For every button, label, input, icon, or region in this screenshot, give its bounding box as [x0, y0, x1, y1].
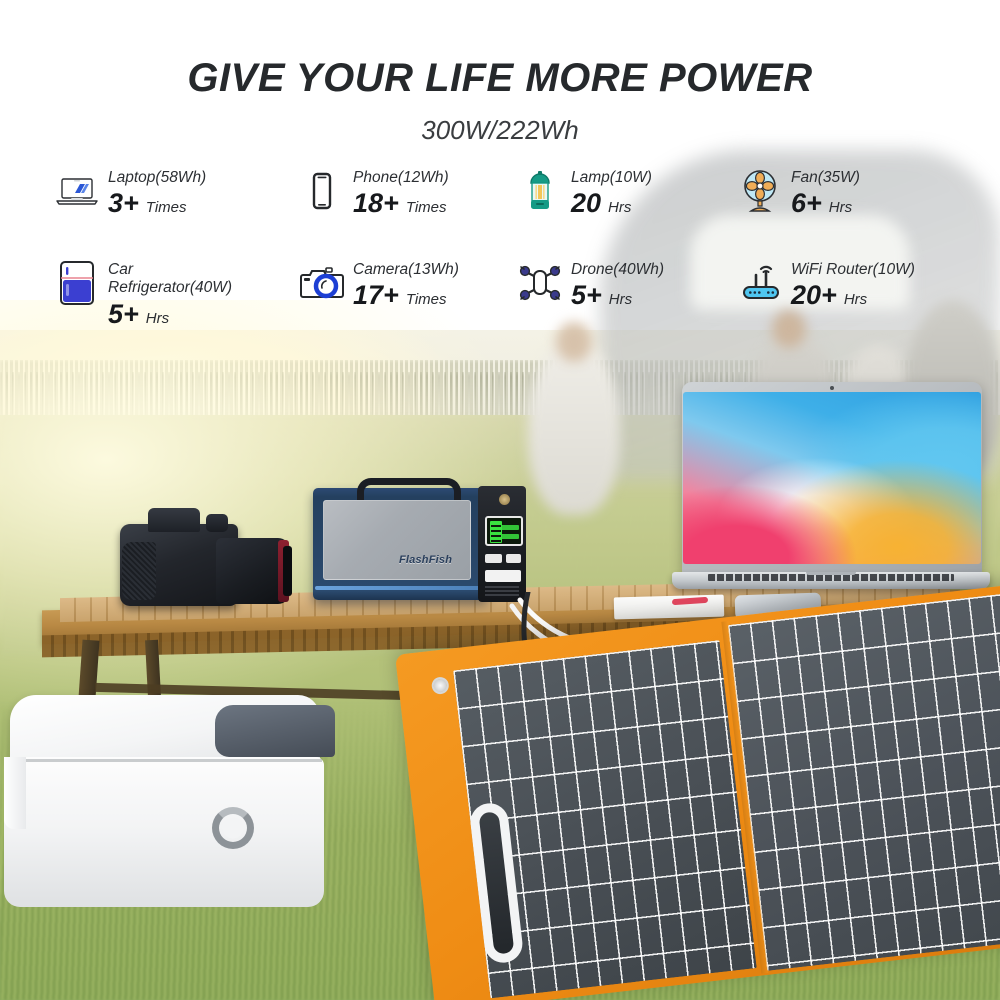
stat-unit: Hrs [844, 291, 867, 308]
folding-solar-panel [395, 585, 1000, 1000]
stat-lamp: Lamp(10W) 20 Hrs [518, 168, 652, 219]
stat-unit: Hrs [146, 310, 169, 327]
background-scene: FlashFish [0, 0, 1000, 1000]
stat-camera: Camera(13Wh) 17+ Times [300, 260, 459, 311]
background-person-head [556, 322, 592, 362]
stat-value: 6+ [791, 188, 822, 219]
battery-level-indicator [490, 521, 502, 543]
stat-value: 17+ [353, 280, 399, 311]
laptop-webcam-icon [830, 386, 834, 390]
camera-viewfinder [148, 508, 200, 532]
device-label: Car Refrigerator(40W) [108, 261, 232, 298]
lamp-icon [518, 168, 562, 214]
power-station-lcd-display [485, 516, 523, 546]
stat-value-line: 6+ Hrs [791, 188, 860, 219]
cooler-latch [212, 807, 254, 849]
phone-icon [300, 168, 344, 214]
stat-text: WiFi Router(10W) 20+ Hrs [791, 260, 915, 311]
power-station-knob [499, 494, 510, 505]
stat-text: Laptop(58Wh) 3+ Times [108, 168, 206, 219]
header: GIVE YOUR LIFE MORE POWER 300W/222Wh [0, 0, 1000, 146]
stat-value-line: 20+ Hrs [791, 280, 915, 311]
camera-dial [206, 514, 228, 532]
stat-text: Lamp(10W) 20 Hrs [571, 168, 652, 219]
background-person-head [772, 310, 806, 348]
cooler-corner [4, 757, 26, 829]
page-title: GIVE YOUR LIFE MORE POWER [0, 56, 1000, 101]
stat-text: Camera(13Wh) 17+ Times [353, 260, 459, 311]
stat-value-line: 18+ Times [353, 188, 449, 219]
stat-value-line: 5+ Hrs [571, 280, 664, 311]
laptop-icon [55, 168, 99, 214]
stat-value-line: 3+ Times [108, 188, 206, 219]
stat-text: Phone(12Wh) 18+ Times [353, 168, 449, 219]
lcd-output-row [501, 525, 519, 530]
brand-logo: FlashFish [399, 554, 452, 566]
stat-value-line: 5+ Hrs [108, 299, 232, 330]
capacity-subtitle: 300W/222Wh [0, 115, 1000, 146]
stat-value-line: 17+ Times [353, 280, 459, 311]
cooler-body [4, 757, 324, 907]
stat-value: 3+ [108, 188, 139, 219]
usb-port [506, 554, 521, 563]
cooler-hinge [215, 705, 335, 757]
stat-value: 5+ [108, 299, 139, 330]
dslr-camera [120, 508, 295, 608]
stat-car-refrigerator: Car Refrigerator(40W) 5+ Hrs [55, 260, 232, 330]
stat-value: 20+ [791, 280, 837, 311]
camera-grip [122, 542, 156, 600]
portable-cooler [0, 695, 350, 925]
usb-port [485, 554, 502, 563]
stat-text: Car Refrigerator(40W) 5+ Hrs [108, 260, 232, 330]
stat-unit: Hrs [829, 199, 852, 216]
stat-value: 20 [571, 188, 601, 219]
laptop-screen [683, 392, 981, 564]
stat-drone: Drone(40Wh) 5+ Hrs [518, 260, 664, 311]
camera-icon [300, 260, 344, 306]
stat-unit: Times [406, 199, 447, 216]
drone-icon [518, 260, 562, 306]
lcd-output-row [501, 534, 519, 539]
device-label: Fan(35W) [791, 169, 860, 187]
wifi-router-icon [738, 260, 782, 306]
device-label: Laptop(58Wh) [108, 169, 206, 187]
stat-text: Fan(35W) 6+ Hrs [791, 168, 860, 219]
stat-wifi-router: WiFi Router(10W) 20+ Hrs [738, 260, 915, 311]
stat-value-line: 20 Hrs [571, 188, 652, 219]
device-label: WiFi Router(10W) [791, 261, 915, 279]
power-station-handle [357, 478, 461, 500]
stat-phone: Phone(12Wh) 18+ Times [300, 168, 449, 219]
stat-unit: Hrs [608, 199, 631, 216]
stat-fan: Fan(35W) 6+ Hrs [738, 168, 860, 219]
stat-laptop: Laptop(58Wh) 3+ Times [55, 168, 206, 219]
solar-cell-array [728, 591, 1000, 971]
camera-lens-front [283, 546, 292, 596]
stat-value: 18+ [353, 188, 399, 219]
power-station-front-panel [323, 500, 471, 580]
stat-unit: Times [146, 199, 187, 216]
device-label: Phone(12Wh) [353, 169, 449, 187]
stat-unit: Hrs [609, 291, 632, 308]
stat-value: 5+ [571, 280, 602, 311]
fan-icon [738, 168, 782, 214]
cooler-seam [6, 759, 322, 762]
device-label: Camera(13Wh) [353, 261, 459, 279]
device-label: Lamp(10W) [571, 169, 652, 187]
power-station-stripe [315, 586, 485, 590]
refrigerator-icon [55, 260, 99, 306]
device-label: Drone(40Wh) [571, 261, 664, 279]
stat-text: Drone(40Wh) 5+ Hrs [571, 260, 664, 311]
background-person [528, 340, 620, 515]
stat-unit: Times [406, 291, 447, 308]
product-marketing-image: FlashFish [0, 0, 1000, 1000]
